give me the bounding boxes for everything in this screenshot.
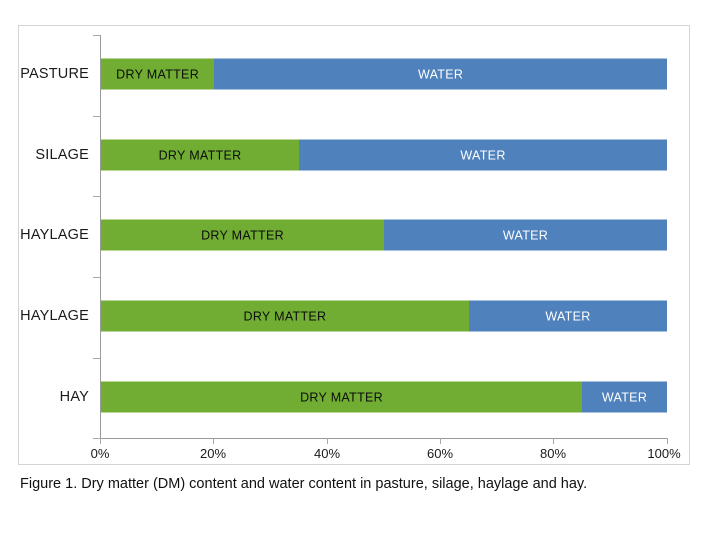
- x-axis-tick-label: 40%: [314, 446, 340, 461]
- bar-segment-water: WATER: [469, 301, 667, 332]
- x-axis-tick-label: 80%: [540, 446, 566, 461]
- bar-segment-water: WATER: [384, 220, 667, 251]
- y-axis-category-label: PASTURE: [19, 66, 89, 82]
- x-axis-tick: [100, 438, 101, 444]
- x-axis-line: [100, 438, 667, 439]
- x-axis-tick-label: 20%: [200, 446, 226, 461]
- x-axis-tick: [327, 438, 328, 444]
- stacked-bar: DRY MATTER WATER: [101, 382, 667, 413]
- bar-segment-water: WATER: [582, 382, 667, 413]
- x-axis-tick-label: 60%: [427, 446, 453, 461]
- x-axis-tick: [213, 438, 214, 444]
- y-axis-category-label: HAYLAGE: [19, 308, 89, 324]
- chart-row: PASTURE DRY MATTER WATER: [19, 35, 667, 113]
- bar-segment-dry-matter: DRY MATTER: [101, 59, 214, 90]
- x-axis-tick: [553, 438, 554, 444]
- bar-segment-dry-matter: DRY MATTER: [101, 301, 469, 332]
- bar-segment-dry-matter: DRY MATTER: [101, 220, 384, 251]
- chart-row: HAY DRY MATTER WATER: [19, 358, 667, 436]
- chart-row: HAYLAGE DRY MATTER WATER: [19, 196, 667, 274]
- stacked-bar: DRY MATTER WATER: [101, 59, 667, 90]
- stacked-bar: DRY MATTER WATER: [101, 140, 667, 171]
- stacked-bar: DRY MATTER WATER: [101, 301, 667, 332]
- bar-segment-dry-matter: DRY MATTER: [101, 140, 299, 171]
- y-axis-category-label: SILAGE: [19, 147, 89, 163]
- y-axis-tick: [93, 438, 100, 439]
- bar-segment-dry-matter: DRY MATTER: [101, 382, 582, 413]
- bar-segment-water: WATER: [299, 140, 667, 171]
- x-axis-tick: [440, 438, 441, 444]
- figure-container: PASTURE DRY MATTER WATER SILAGE DRY MATT…: [0, 0, 720, 540]
- y-axis-category-label: HAYLAGE: [19, 227, 89, 243]
- chart-row: HAYLAGE DRY MATTER WATER: [19, 277, 667, 355]
- figure-caption: Figure 1. Dry matter (DM) content and wa…: [20, 474, 696, 495]
- x-axis-tick-label: 0%: [91, 446, 110, 461]
- x-axis-tick: [667, 438, 668, 444]
- stacked-bar: DRY MATTER WATER: [101, 220, 667, 251]
- bar-segment-water: WATER: [214, 59, 667, 90]
- chart-frame: PASTURE DRY MATTER WATER SILAGE DRY MATT…: [18, 25, 690, 465]
- chart-row: SILAGE DRY MATTER WATER: [19, 116, 667, 194]
- y-axis-category-label: HAY: [19, 389, 89, 405]
- x-axis-tick-label: 100%: [647, 446, 680, 461]
